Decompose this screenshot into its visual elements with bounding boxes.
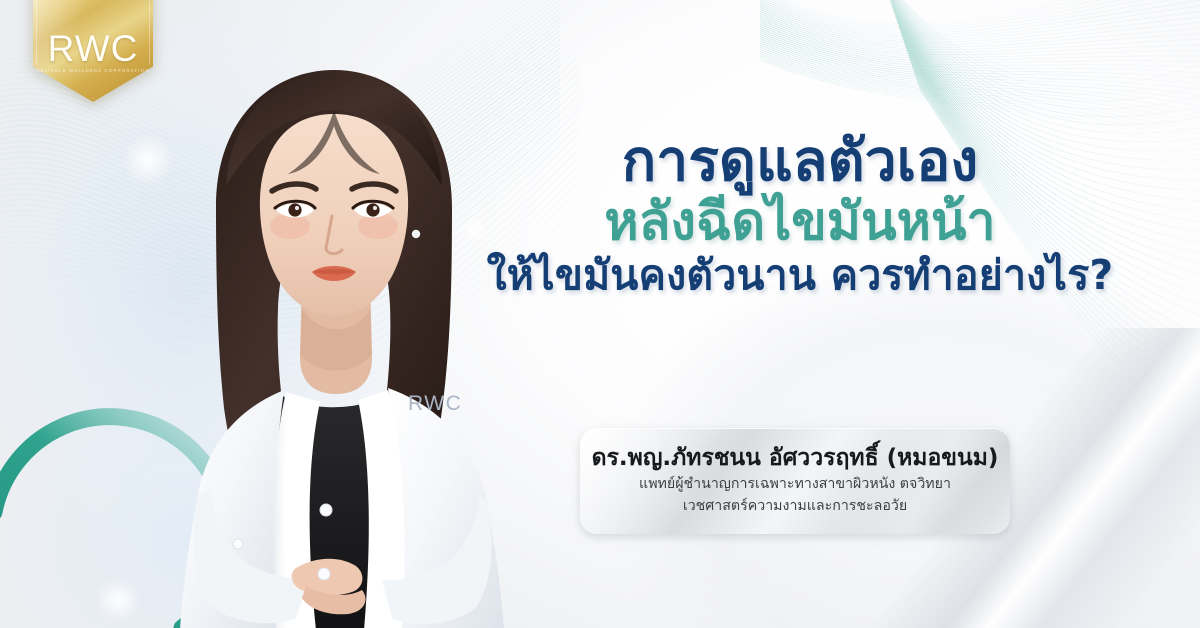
doctor-credential-line-2: เวชศาสตร์ความงามและการชะลอวัย (683, 496, 907, 517)
doctor-nameplate: ดร.พญ.ภัทรชนน อัศววรฤทธิ์ (หมอขนม) แพทย์… (580, 428, 1010, 534)
doctor-name: ดร.พญ.ภัทรชนน อัศววรฤทธิ์ (หมอขนม) (592, 443, 999, 474)
banner-canvas: RWC RELIABLE WELLNESS CORPORATION (0, 0, 1200, 628)
headline-line-1: การดูแลตัวเอง (430, 132, 1170, 190)
doctor-credential-line-1: แพทย์ผู้ชำนาญการเฉพาะทางสาขาผิวหนัง ตจวิ… (639, 474, 951, 495)
coat-logo-text: RWC (408, 392, 462, 415)
headline-line-3: ให้ไขมันคงตัวนาน ควรทำอย่างไร? (430, 255, 1170, 297)
headline-block: การดูแลตัวเอง หลังฉีดไขมันหน้า ให้ไขมันค… (430, 132, 1170, 297)
headline-line-2: หลังฉีดไขมันหน้า (430, 196, 1170, 249)
